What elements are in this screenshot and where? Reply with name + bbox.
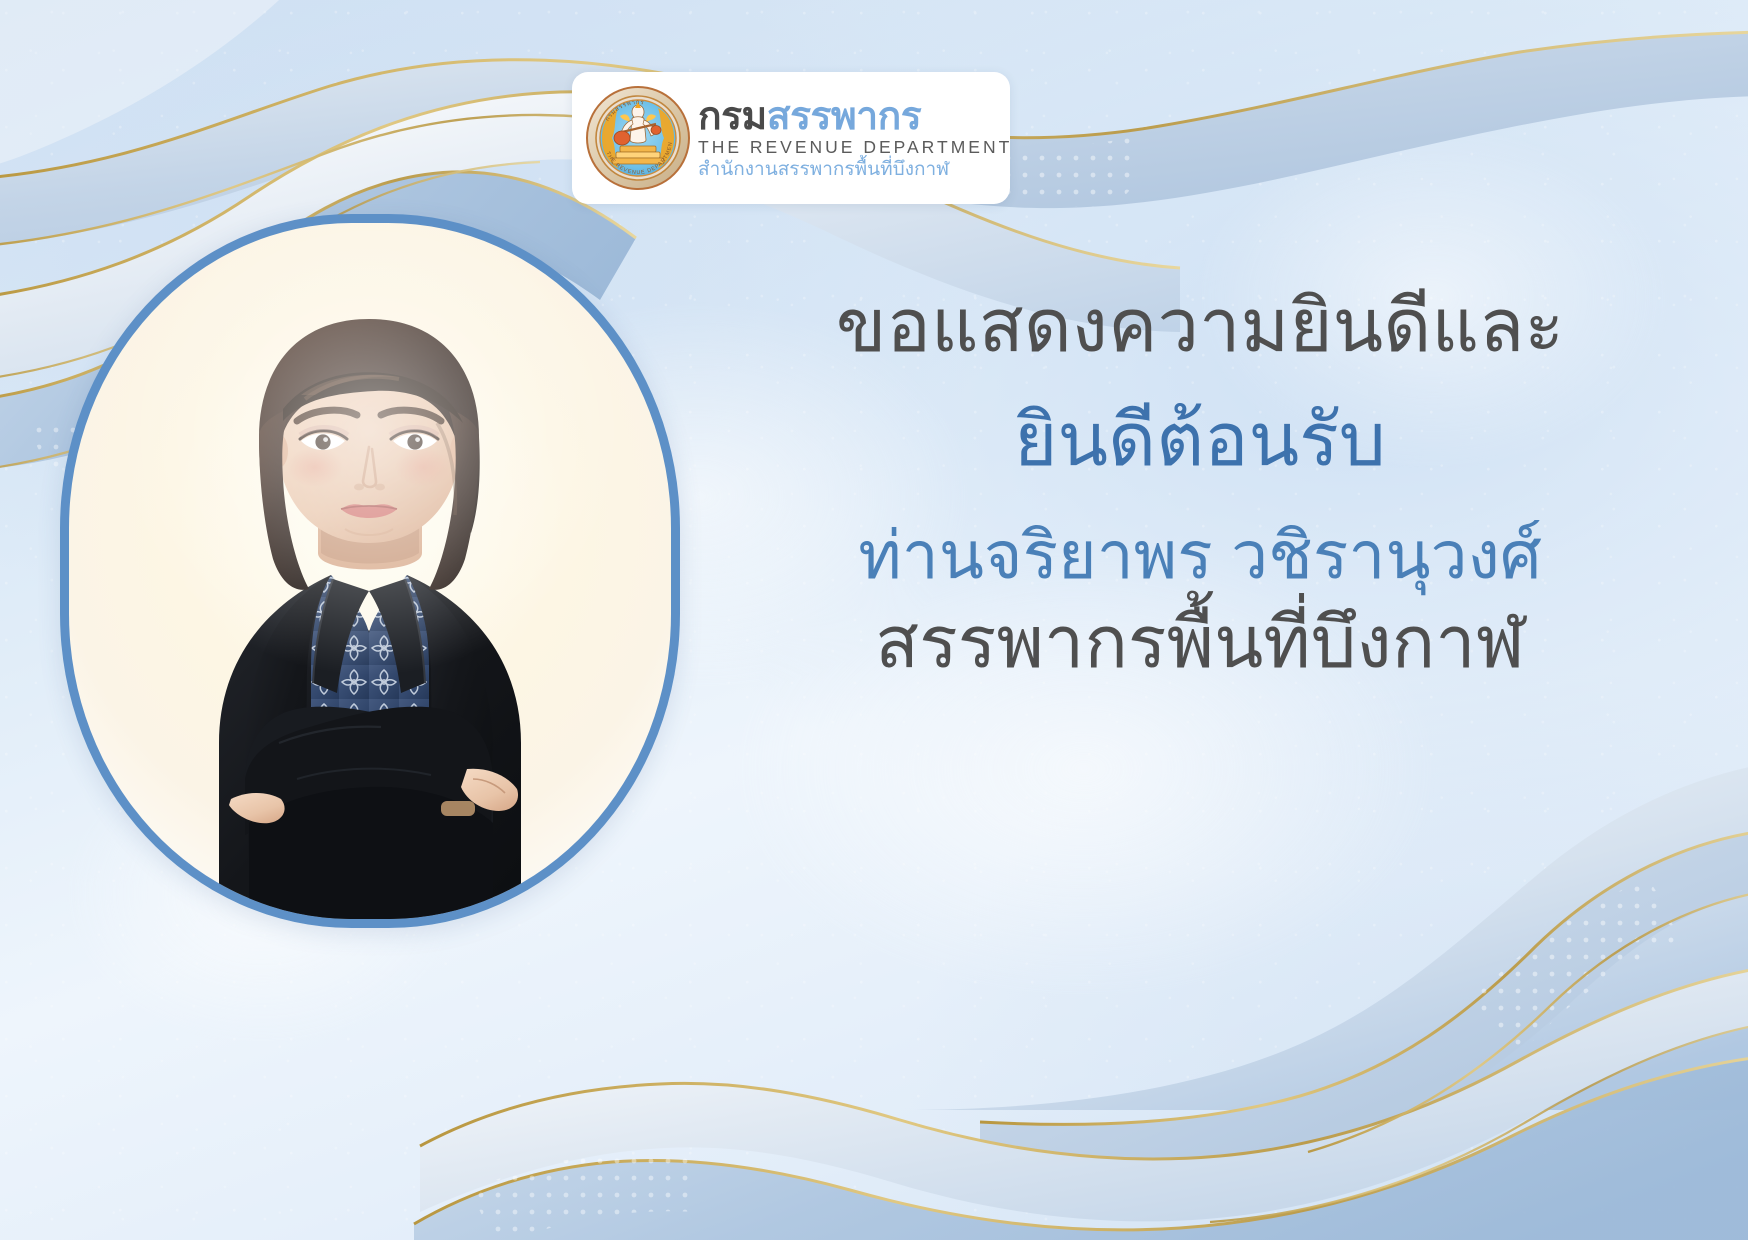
headline-block: ขอแสดงความยินดีและ ยินดีต้อนรับ ท่านจริย… — [700, 286, 1700, 683]
banner-canvas: กรมสรรพากร THE REVENUE DEPARTMENT กรมสรร… — [0, 0, 1748, 1240]
portrait-frame — [60, 214, 680, 928]
portrait-photo — [60, 214, 680, 928]
headline-line-3: ท่านจริยาพร วชิรานุวงศ์ — [700, 520, 1700, 591]
logo-subtitle-english: THE REVENUE DEPARTMENT — [698, 139, 1012, 157]
logo-office-name: สำนักงานสรรพากรพื้นที่บึงกาฬ — [698, 160, 1012, 179]
headline-line-4: สรรพากรพื้นที่บึงกาฬ — [700, 605, 1700, 683]
person-illustration — [69, 223, 671, 919]
headline-line-2: ยินดีต้อนรับ — [700, 400, 1700, 480]
revenue-department-seal-icon: กรมสรรพากร THE REVENUE DEPARTMENT — [586, 86, 690, 190]
logo-title-prefix: กรม — [698, 95, 767, 138]
headline-line-1: ขอแสดงความยินดีและ — [700, 286, 1700, 366]
revenue-department-logo-card: กรมสรรพากร THE REVENUE DEPARTMENT กรมสรร… — [572, 72, 1010, 204]
logo-title-suffix: สรรพากร — [767, 95, 921, 138]
logo-title-thai: กรมสรรพากร — [698, 97, 1012, 136]
